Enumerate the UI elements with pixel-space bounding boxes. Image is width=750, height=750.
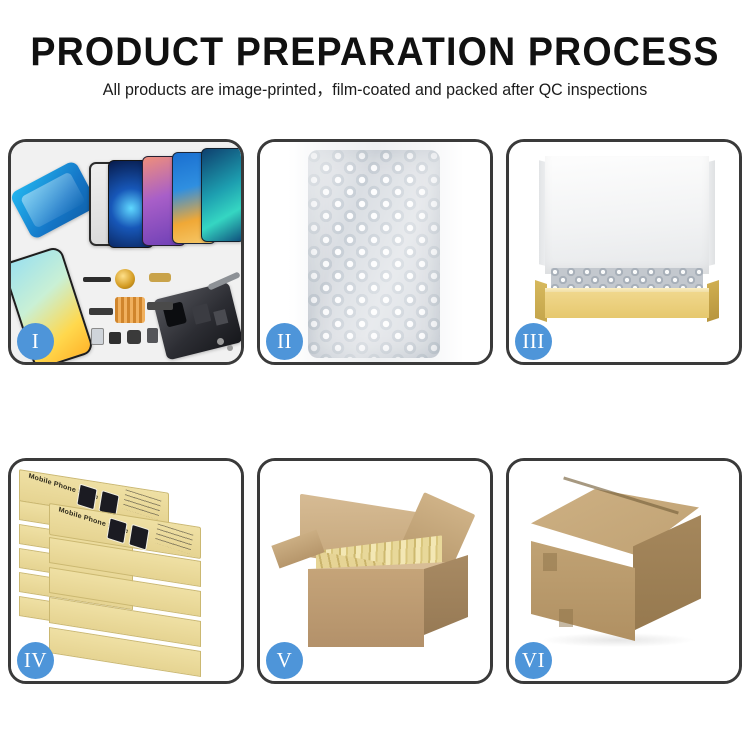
phone-screen-teal <box>201 148 241 242</box>
box-screen-graphic-1 <box>76 483 97 510</box>
step-panel-4[interactable]: Mobile Phone Spare Parts Mobile Phone Sp… <box>8 458 244 684</box>
page-subtitle: All products are image-printed，film-coat… <box>11 78 739 102</box>
sealed-carton-tape-upper <box>543 553 557 571</box>
step-badge-1: I <box>17 323 54 360</box>
component-screw-1 <box>217 338 224 345</box>
component-ribbon <box>147 302 173 310</box>
step-badge-5: V <box>266 642 303 679</box>
step-badge-6: VI <box>515 642 552 679</box>
page-header: PRODUCT PREPARATION PROCESS All products… <box>0 0 750 102</box>
component-connector <box>89 308 113 315</box>
component-coil <box>115 269 135 289</box>
sealed-carton-tape-lower <box>559 609 573 627</box>
step-badge-3: III <box>515 323 552 360</box>
process-steps-grid: I II III <box>8 139 742 684</box>
step-badge-2: II <box>266 323 303 360</box>
step-panel-2[interactable]: II <box>257 139 493 365</box>
carton-front-wall <box>308 569 424 647</box>
blue-adhesive-part <box>11 160 99 241</box>
bubble-wrap-sheen <box>308 150 440 358</box>
component-flex-cable <box>83 277 111 282</box>
step-badge-4: IV <box>17 642 54 679</box>
component-camera <box>109 332 121 344</box>
box-front-wall <box>545 292 709 318</box>
component-speaker <box>127 330 141 344</box>
carton-side-wall <box>424 555 468 635</box>
component-button <box>147 328 158 343</box>
step-panel-1[interactable]: I <box>8 139 244 365</box>
page-title: PRODUCT PREPARATION PROCESS <box>23 30 728 74</box>
box-screen-graphic-4 <box>128 524 149 551</box>
box-screen-graphic-3 <box>106 517 127 544</box>
component-sim-tray <box>91 328 104 345</box>
step-panel-3[interactable]: III <box>506 139 742 365</box>
step-panel-6[interactable]: VI <box>506 458 742 684</box>
component-bracket <box>149 273 171 282</box>
step-panel-5[interactable]: V <box>257 458 493 684</box>
component-screw-2 <box>227 345 233 351</box>
box-lid <box>545 156 709 274</box>
component-chip <box>115 297 145 323</box>
box-spec-text-2 <box>155 524 194 555</box>
